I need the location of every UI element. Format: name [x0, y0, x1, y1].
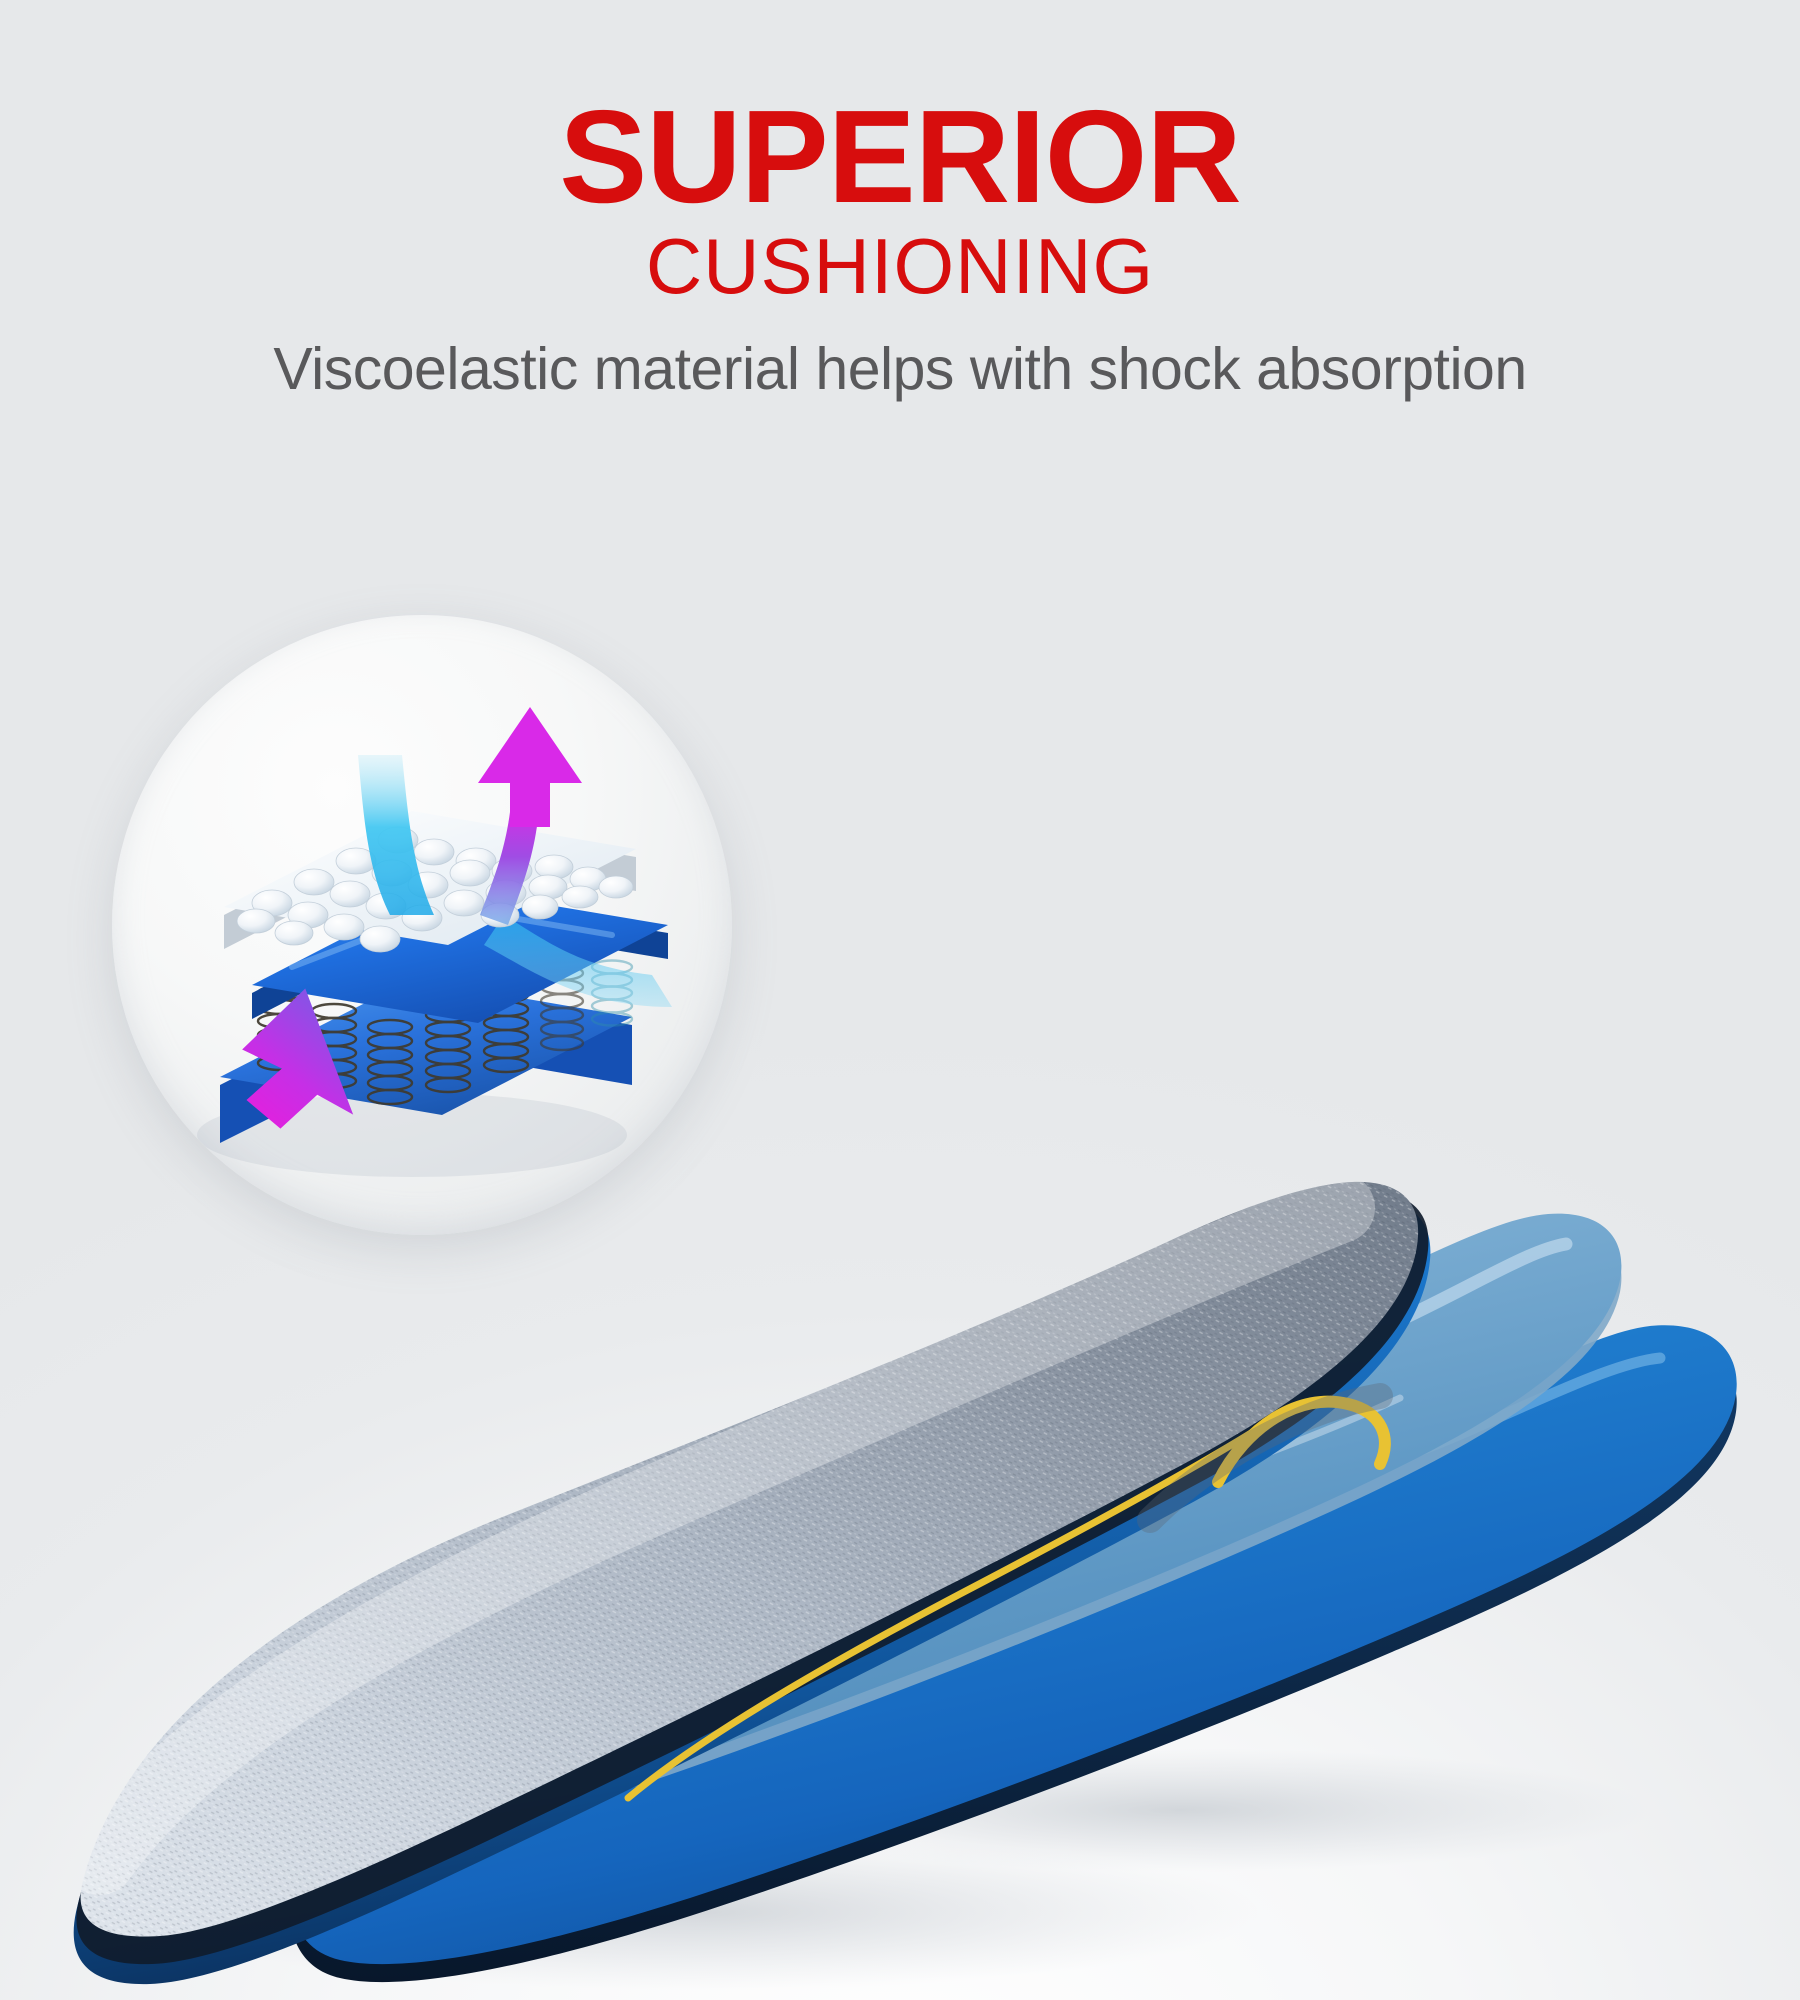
page-tagline: Viscoelastic material helps with shock a… [0, 335, 1800, 403]
product-feature-page: SUPERIOR CUSHIONING Viscoelastic materia… [0, 0, 1800, 2000]
cushion-cutaway-badge [112, 615, 732, 1235]
layered-cushion-diagram [112, 615, 732, 1235]
page-title: SUPERIOR [0, 96, 1800, 217]
page-subtitle: CUSHIONING [0, 227, 1800, 305]
product-stage [0, 520, 1800, 2000]
header: SUPERIOR CUSHIONING Viscoelastic materia… [0, 0, 1800, 403]
